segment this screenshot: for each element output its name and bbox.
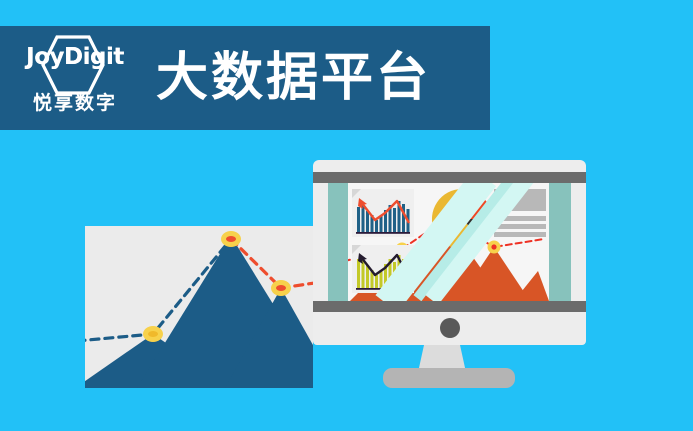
logo-wordmark: JoyDigit — [16, 44, 134, 70]
placeholder-line — [494, 224, 546, 229]
blue-bar-chart — [352, 189, 414, 237]
dashboard-area — [348, 183, 549, 301]
logo-subtitle: 悦享数字 — [16, 88, 134, 115]
monitor-stand-base — [383, 368, 515, 388]
screen-side-panel-right — [549, 183, 571, 301]
screen-side-panel-left — [328, 183, 348, 301]
monitor-camera-dot — [440, 318, 460, 338]
monitor-top-bar — [313, 172, 586, 183]
mountain-chart-panel — [85, 226, 313, 388]
monitor-screen — [328, 183, 571, 301]
data-marker — [226, 236, 236, 242]
placeholder-line — [494, 232, 546, 237]
data-marker — [276, 285, 286, 291]
monitor-bottom-bar — [313, 301, 586, 312]
page-title: 大数据平台 — [156, 52, 431, 104]
logo[interactable]: JoyDigit 悦享数字 — [16, 32, 134, 124]
blue-bar-chart-card[interactable] — [352, 189, 414, 237]
mountain-area-chart — [85, 226, 313, 388]
header-banner: JoyDigit 悦享数字 大数据平台 — [0, 26, 490, 130]
data-marker — [148, 331, 158, 337]
poster-canvas: JoyDigit 悦享数字 大数据平台 — [0, 0, 693, 431]
page-fold-corner — [352, 245, 361, 254]
desktop-monitor — [313, 160, 586, 345]
page-fold-corner — [352, 189, 361, 198]
